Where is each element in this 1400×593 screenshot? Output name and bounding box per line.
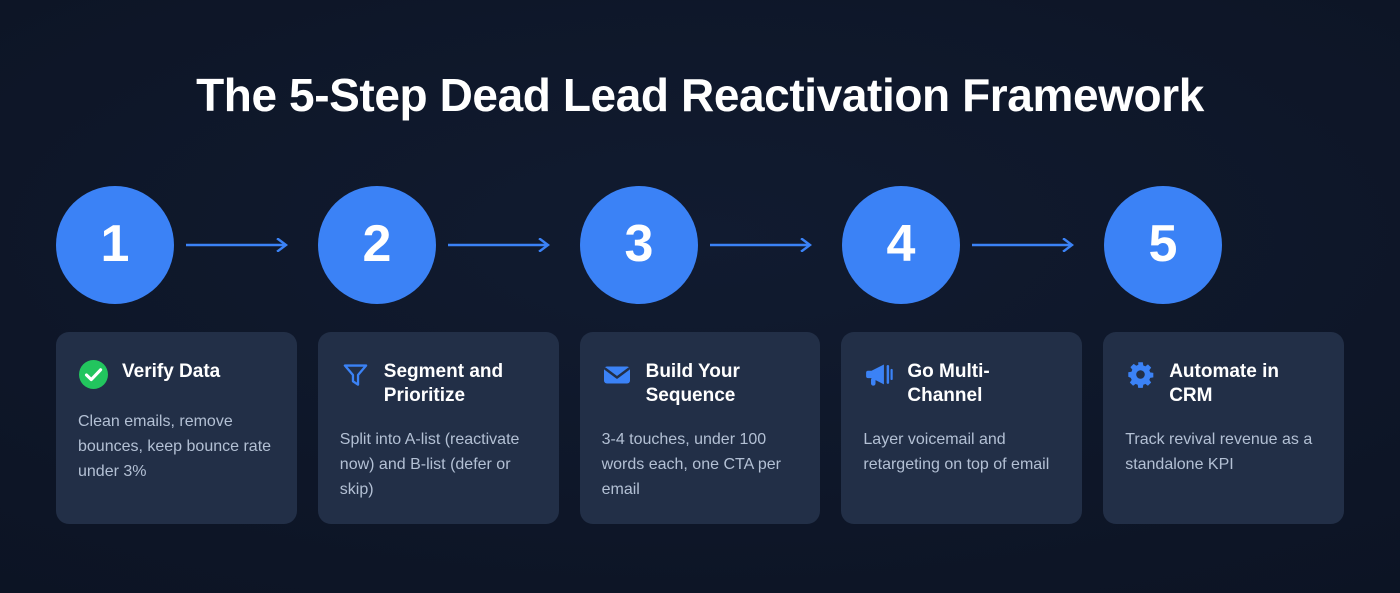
step-card-header-5: Automate in CRM	[1125, 358, 1322, 408]
connector-arrow-1	[186, 238, 293, 252]
step-card-title-3: Build Your Sequence	[646, 358, 799, 408]
step-card-header-2: Segment and Prioritize	[340, 358, 537, 408]
step-number-circle-3: 3	[580, 186, 698, 304]
check-circle-icon	[78, 359, 109, 390]
step-card-3: Build Your Sequence 3-4 touches, under 1…	[580, 332, 821, 524]
step-node-5: 5	[1104, 186, 1222, 304]
step-card-header-3: Build Your Sequence	[602, 358, 799, 408]
step-card-title-1: Verify Data	[122, 358, 220, 384]
step-number-circle-1: 1	[56, 186, 174, 304]
funnel-icon	[340, 359, 371, 390]
arrow-right-icon	[710, 238, 817, 252]
connector-arrow-2	[448, 238, 555, 252]
step-circles-row: 1 2 3	[56, 186, 1344, 304]
arrow-right-icon	[448, 238, 555, 252]
step-number-label-4: 4	[887, 218, 916, 270]
step-node-3: 3	[580, 186, 698, 304]
step-number-label-1: 1	[101, 218, 130, 270]
megaphone-icon	[863, 359, 894, 390]
step-card-header-4: Go Multi-Channel	[863, 358, 1060, 408]
step-card-title-4: Go Multi-Channel	[907, 358, 1060, 408]
step-card-title-5: Automate in CRM	[1169, 358, 1322, 408]
step-card-description-1: Clean emails, remove bounces, keep bounc…	[78, 409, 275, 484]
framework-infographic: The 5-Step Dead Lead Reactivation Framew…	[0, 0, 1400, 593]
step-number-label-3: 3	[625, 218, 654, 270]
step-card-description-4: Layer voicemail and retargeting on top o…	[863, 427, 1060, 477]
step-card-5: Automate in CRM Track revival revenue as…	[1103, 332, 1344, 524]
step-card-description-3: 3-4 touches, under 100 words each, one C…	[602, 427, 799, 502]
gear-icon	[1125, 359, 1156, 390]
arrow-right-icon	[186, 238, 293, 252]
step-card-header-1: Verify Data	[78, 358, 275, 390]
step-node-2: 2	[318, 186, 436, 304]
step-node-4: 4	[842, 186, 960, 304]
step-cards-row: Verify Data Clean emails, remove bounces…	[56, 332, 1344, 524]
step-number-label-2: 2	[363, 218, 392, 270]
connector-arrow-4	[972, 238, 1079, 252]
step-card-title-2: Segment and Prioritize	[384, 358, 537, 408]
step-number-label-5: 5	[1149, 218, 1178, 270]
page-title: The 5-Step Dead Lead Reactivation Framew…	[0, 66, 1400, 124]
arrow-right-icon	[972, 238, 1079, 252]
step-number-circle-4: 4	[842, 186, 960, 304]
step-node-1: 1	[56, 186, 174, 304]
step-card-1: Verify Data Clean emails, remove bounces…	[56, 332, 297, 524]
step-card-description-2: Split into A-list (reactivate now) and B…	[340, 427, 537, 502]
step-card-4: Go Multi-Channel Layer voicemail and ret…	[841, 332, 1082, 524]
envelope-icon	[602, 359, 633, 390]
step-number-circle-2: 2	[318, 186, 436, 304]
step-card-2: Segment and Prioritize Split into A-list…	[318, 332, 559, 524]
step-number-circle-5: 5	[1104, 186, 1222, 304]
connector-arrow-3	[710, 238, 817, 252]
step-card-description-5: Track revival revenue as a standalone KP…	[1125, 427, 1322, 477]
